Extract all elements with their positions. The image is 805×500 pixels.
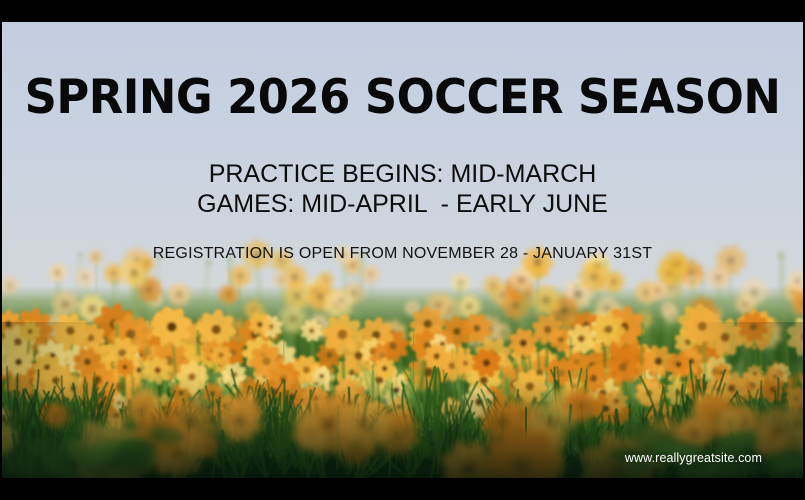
practice-begins-line: PRACTICE BEGINS: MID-MARCH <box>2 162 803 187</box>
page-title: SPRING 2026 SOCCER SEASON <box>2 74 803 121</box>
website-url: www.reallygreatsite.com <box>625 452 762 465</box>
games-dates-line: GAMES: MID-APRIL - EARLY JUNE <box>2 192 803 217</box>
poster-canvas: SPRING 2026 SOCCER SEASON PRACTICE BEGIN… <box>2 22 803 478</box>
poster-frame: SPRING 2026 SOCCER SEASON PRACTICE BEGIN… <box>0 0 805 500</box>
registration-window-line: REGISTRATION IS OPEN FROM NOVEMBER 28 - … <box>2 246 803 262</box>
